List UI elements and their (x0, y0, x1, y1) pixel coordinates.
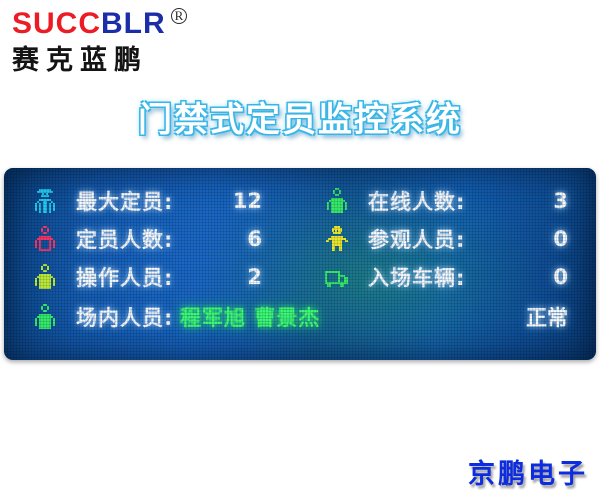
led-value: 0 (553, 265, 568, 289)
person-icon (30, 224, 60, 254)
led-label: 定员人数: (76, 224, 173, 254)
led-rows: 最大定员: 12 (4, 168, 596, 360)
logo-latin-text: SUCCBLR (12, 8, 166, 40)
led-cell-visitors: 参观人员: 0 (304, 220, 596, 258)
footer-company-name: 京鹏电子 (468, 452, 588, 491)
person-icon (30, 262, 60, 292)
led-row: 定员人数: 6 (4, 220, 596, 258)
led-cell-operators: 操作人员: 2 (4, 258, 304, 296)
page-title: 门禁式定员监控系统 (0, 92, 600, 141)
person-cap-icon (30, 186, 60, 216)
person-visitor-icon (322, 224, 352, 254)
led-cell-onsite-personnel: 场内人员: 程军旭 曹景杰 (4, 298, 304, 336)
led-cell-status: 正常 (304, 298, 596, 336)
registered-trademark-icon: R (171, 8, 187, 24)
led-value: 6 (247, 227, 262, 251)
logo-chinese-text: 赛克蓝鹏 (12, 38, 148, 77)
person-icon (30, 302, 60, 332)
led-label: 入场车辆: (368, 262, 465, 292)
led-value: 12 (233, 189, 262, 213)
led-cell-vehicles: 入场车辆: 0 (304, 258, 596, 296)
led-label: 操作人员: (76, 262, 173, 292)
led-cell-assigned-staff: 定员人数: 6 (4, 220, 304, 258)
led-value: 0 (553, 227, 568, 251)
status-badge: 正常 (526, 302, 568, 332)
truck-icon (322, 262, 352, 292)
onsite-personnel-names: 程军旭 曹景杰 (180, 302, 320, 332)
led-row: 最大定员: 12 (4, 182, 596, 220)
led-value: 2 (247, 265, 262, 289)
led-cell-max-capacity: 最大定员: 12 (4, 182, 304, 220)
company-logo: SUCCBLR R 赛克蓝鹏 (8, 4, 228, 76)
logo-succ-text: SUCC (12, 7, 101, 40)
logo-blr-text: BLR (101, 7, 166, 40)
led-value: 3 (553, 189, 568, 213)
led-row: 场内人员: 程军旭 曹景杰 正常 (4, 298, 596, 336)
led-label: 在线人数: (368, 186, 465, 216)
led-display-panel: 最大定员: 12 (4, 168, 596, 360)
led-label: 参观人员: (368, 224, 465, 254)
led-label: 场内人员: (76, 302, 173, 332)
led-cell-online-count: 在线人数: 3 (304, 182, 596, 220)
person-icon (322, 186, 352, 216)
led-label: 最大定员: (76, 186, 173, 216)
led-row: 操作人员: 2 (4, 258, 596, 296)
